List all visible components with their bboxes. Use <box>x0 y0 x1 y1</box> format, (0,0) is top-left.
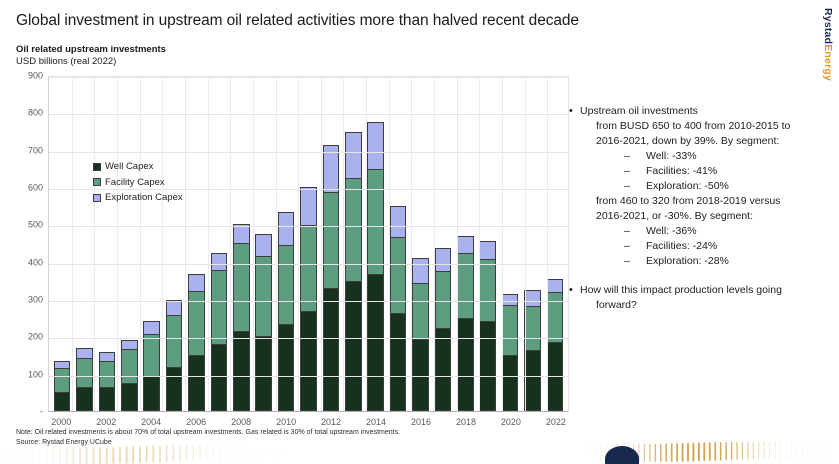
bar-segment <box>345 132 362 179</box>
x-axis-tick: 2010 <box>276 417 296 427</box>
gridline-horizontal <box>49 301 568 302</box>
bullet-line: 2016-2021, down by 39%. By segment: <box>580 134 834 149</box>
gridline-vertical <box>411 77 412 411</box>
rystad-energy-logo: RystadEnergy <box>823 8 834 81</box>
bar-slot <box>141 77 163 411</box>
bar-segment <box>524 306 541 350</box>
bar-slot <box>320 77 342 411</box>
bar-segment <box>54 361 71 368</box>
x-slot: 2020 <box>500 413 522 431</box>
gridline-vertical <box>208 77 209 411</box>
bar-segment <box>99 387 116 411</box>
bullet-line: from 460 to 320 from 2018-2019 versus <box>580 194 834 209</box>
bar-group <box>49 77 568 411</box>
legend-swatch-icon <box>93 178 101 186</box>
bar-segment <box>76 358 93 387</box>
bar-segment <box>278 245 295 324</box>
stacked-bar[interactable] <box>367 122 384 411</box>
bar-slot <box>253 77 275 411</box>
bar-segment <box>435 271 452 328</box>
legend-label: Exploration Capex <box>105 193 183 203</box>
y-axis-tick: 700 <box>28 146 43 155</box>
sub-bullet-dash-icon: – <box>624 179 646 194</box>
logo-energy: Energy <box>822 44 834 81</box>
legend-label: Well Capex <box>105 162 153 172</box>
gridline-vertical <box>457 77 458 411</box>
bar-segment <box>323 288 340 411</box>
bar-slot <box>364 77 386 411</box>
stacked-bar[interactable] <box>524 290 541 411</box>
sub-bullet-item: –Well: -36% <box>580 224 834 239</box>
gridline-horizontal <box>49 338 568 339</box>
legend-label: Facility Capex <box>105 178 165 188</box>
bar-segment <box>76 348 93 358</box>
sub-bullet-dash-icon: – <box>624 254 646 269</box>
y-axis-tick: 500 <box>28 221 43 230</box>
bar-segment <box>547 292 564 342</box>
gridline-vertical <box>230 77 231 411</box>
gridline-horizontal <box>49 226 568 227</box>
x-axis-tick: 2004 <box>141 417 161 427</box>
bar-segment <box>54 368 71 392</box>
bar-segment <box>435 248 452 271</box>
stacked-bar[interactable] <box>435 248 452 411</box>
x-axis-tick: 2008 <box>231 417 251 427</box>
legend-item[interactable]: Well Capex <box>93 162 183 172</box>
gridline-vertical <box>389 77 390 411</box>
stacked-bar[interactable] <box>345 132 362 411</box>
gridline-vertical <box>434 77 435 411</box>
bar-segment <box>367 122 384 169</box>
sub-bullet-dash-icon: – <box>624 164 646 179</box>
sub-bullet-label: Exploration: -50% <box>646 179 729 194</box>
y-axis-tick: 200 <box>28 333 43 342</box>
bar-segment <box>412 283 429 340</box>
stacked-bar[interactable] <box>502 294 519 411</box>
bar-segment <box>121 383 138 411</box>
bar-slot <box>185 77 207 411</box>
bullet-dot-icon: • <box>566 283 580 313</box>
stacked-bar[interactable] <box>255 234 272 411</box>
gridline-vertical <box>343 77 344 411</box>
x-axis-tick: 2020 <box>501 417 521 427</box>
sub-bullet-item: –Facilities: -41% <box>580 164 834 179</box>
stacked-bar[interactable] <box>390 206 407 411</box>
bullet-line: 2016-2021, or -30%. By segment: <box>580 209 834 224</box>
bar-segment <box>255 256 272 336</box>
x-axis-tick: 2002 <box>96 417 116 427</box>
bar-segment <box>54 392 71 411</box>
bar-slot <box>163 77 185 411</box>
gridline-vertical <box>117 77 118 411</box>
bar-segment <box>502 305 519 355</box>
bullet-body: How will this impact production levels g… <box>580 283 834 313</box>
sub-bullet-item: –Facilities: -24% <box>580 239 834 254</box>
bullet-line: from BUSD 650 to 400 from 2010-2015 to <box>580 119 834 134</box>
bar-segment <box>188 355 205 411</box>
bar-segment <box>479 321 496 411</box>
bar-slot <box>73 77 95 411</box>
gridline-horizontal <box>49 264 568 265</box>
bar-segment <box>524 290 541 306</box>
bar-segment <box>121 349 138 383</box>
bar-segment <box>390 206 407 237</box>
sub-bullet-label: Exploration: -28% <box>646 254 729 269</box>
gridline-vertical <box>162 77 163 411</box>
gridline-vertical <box>140 77 141 411</box>
bullet-line: Upstream oil investments <box>580 104 834 119</box>
stacked-bar[interactable] <box>547 279 564 411</box>
gridline-vertical <box>72 77 73 411</box>
bar-segment <box>233 243 250 330</box>
chart-subtitle: USD billions (real 2022) <box>16 56 116 67</box>
stacked-bar[interactable] <box>166 300 183 411</box>
sub-bullet-label: Facilities: -24% <box>646 239 717 254</box>
stacked-bar[interactable] <box>188 274 205 411</box>
bullet-body: Upstream oil investmentsfrom BUSD 650 to… <box>580 104 834 269</box>
legend-item[interactable]: Facility Capex <box>93 178 183 188</box>
gridline-vertical <box>298 77 299 411</box>
sub-bullet-item: –Well: -33% <box>580 149 834 164</box>
gridline-vertical <box>185 77 186 411</box>
bar-segment <box>547 279 564 292</box>
bullet-block: •Upstream oil investmentsfrom BUSD 650 t… <box>566 104 834 269</box>
gridline-vertical <box>253 77 254 411</box>
bar-segment <box>502 355 519 411</box>
sub-bullet-item: –Exploration: -50% <box>580 179 834 194</box>
legend-swatch-icon <box>93 163 101 171</box>
sub-bullet-item: –Exploration: -28% <box>580 254 834 269</box>
y-axis-tick: 800 <box>28 109 43 118</box>
x-axis-tick: 2018 <box>456 417 476 427</box>
gridline-vertical <box>479 77 480 411</box>
bar-segment <box>412 258 429 282</box>
y-axis-tick: 400 <box>28 258 43 267</box>
legend-swatch-icon <box>93 194 101 202</box>
bar-segment <box>323 192 340 288</box>
stacked-bar[interactable] <box>479 241 496 411</box>
sub-bullet-dash-icon: – <box>624 149 646 164</box>
chart-container: 900800700600500400300200100- 20002002200… <box>15 76 570 421</box>
stacked-bar[interactable] <box>211 253 228 411</box>
bar-slot <box>342 77 364 411</box>
bar-slot <box>230 77 252 411</box>
bar-segment <box>278 212 295 246</box>
stacked-bar[interactable] <box>99 352 116 411</box>
x-axis-tick: 2016 <box>411 417 431 427</box>
stacked-bar[interactable] <box>233 224 250 411</box>
gridline-vertical <box>94 77 95 411</box>
bullet-line: How will this impact production levels g… <box>580 283 834 298</box>
bullet-line: forward? <box>580 298 834 313</box>
bar-segment <box>211 344 228 411</box>
bar-segment <box>211 253 228 270</box>
stacked-bar[interactable] <box>323 145 340 411</box>
bar-segment <box>502 294 519 305</box>
stacked-bar[interactable] <box>300 187 317 411</box>
x-slot: 2022 <box>545 413 567 431</box>
bar-segment <box>300 311 317 411</box>
y-axis-tick: 600 <box>28 184 43 193</box>
stacked-bar[interactable] <box>76 348 93 411</box>
legend-item[interactable]: Exploration Capex <box>93 193 183 203</box>
bar-segment <box>524 350 541 411</box>
gridline-horizontal <box>49 376 568 377</box>
gridline-vertical <box>525 77 526 411</box>
stacked-bar[interactable] <box>278 212 295 411</box>
bar-segment <box>300 187 317 225</box>
x-axis-tick: 2022 <box>546 417 566 427</box>
bar-slot <box>51 77 73 411</box>
bar-segment <box>457 236 474 254</box>
bar-segment <box>345 178 362 281</box>
x-slot: 2018 <box>455 413 477 431</box>
y-axis-tick: 100 <box>28 370 43 379</box>
bar-segment <box>255 336 272 411</box>
slide-root: Global investment in upstream oil relate… <box>0 0 839 464</box>
x-axis-tick: 2012 <box>321 417 341 427</box>
stacked-bar[interactable] <box>457 236 474 411</box>
bar-segment <box>143 321 160 333</box>
bar-slot <box>208 77 230 411</box>
bar-segment <box>211 270 228 344</box>
x-slot <box>432 413 454 431</box>
bar-segment <box>143 334 160 376</box>
x-slot <box>477 413 499 431</box>
x-axis-tick: 2014 <box>366 417 386 427</box>
bar-segment <box>76 387 93 411</box>
x-axis-tick: 2000 <box>51 417 71 427</box>
sub-bullet-dash-icon: – <box>624 239 646 254</box>
bar-slot <box>387 77 409 411</box>
bar-segment <box>188 274 205 290</box>
bar-slot <box>96 77 118 411</box>
y-axis: 900800700600500400300200100- <box>15 76 47 412</box>
stacked-bar[interactable] <box>412 258 429 411</box>
bar-slot <box>409 77 431 411</box>
note-line-1: Note: Oil related investments is about 7… <box>16 428 400 438</box>
sub-bullet-label: Well: -33% <box>646 149 697 164</box>
sub-bullet-label: Well: -36% <box>646 224 697 239</box>
bar-segment <box>121 340 138 350</box>
bar-segment <box>166 300 183 315</box>
bar-segment <box>143 376 160 411</box>
gridline-vertical <box>502 77 503 411</box>
decorative-dots-left <box>0 440 300 464</box>
sub-bullet-dash-icon: – <box>624 224 646 239</box>
bar-segment <box>367 274 384 411</box>
stacked-bar[interactable] <box>54 361 71 411</box>
page-title: Global investment in upstream oil relate… <box>16 12 579 30</box>
logo-rystad: Rystad <box>822 8 834 44</box>
gridline-vertical <box>321 77 322 411</box>
gridline-horizontal <box>49 152 568 153</box>
x-slot: 2016 <box>410 413 432 431</box>
commentary-panel: •Upstream oil investmentsfrom BUSD 650 t… <box>566 104 834 327</box>
bar-segment <box>233 331 250 411</box>
bar-segment <box>435 328 452 411</box>
chart-title: Oil related upstream investments <box>16 44 166 55</box>
bullet-dot-icon: • <box>566 104 580 269</box>
y-axis-tick: 900 <box>28 72 43 81</box>
y-axis-tick: 300 <box>28 296 43 305</box>
gridline-vertical <box>547 77 548 411</box>
x-axis-tick: 2006 <box>186 417 206 427</box>
bar-slot <box>275 77 297 411</box>
bar-slot <box>297 77 319 411</box>
bar-segment <box>99 352 116 361</box>
bar-segment <box>166 315 183 367</box>
chart-legend: Well CapexFacility CapexExploration Cape… <box>93 162 183 203</box>
gridline-horizontal <box>49 77 568 78</box>
gridline-vertical <box>276 77 277 411</box>
bar-segment <box>166 367 183 411</box>
bar-slot <box>118 77 140 411</box>
bar-segment <box>99 361 116 387</box>
bullet-block: •How will this impact production levels … <box>566 283 834 313</box>
bar-segment <box>390 313 407 411</box>
bar-segment <box>457 318 474 411</box>
bar-segment <box>300 225 317 311</box>
stacked-bar[interactable] <box>143 321 160 411</box>
gridline-vertical <box>366 77 367 411</box>
plot-area <box>48 76 569 412</box>
y-axis-tick: - <box>40 408 43 417</box>
bar-segment <box>479 259 496 321</box>
bar-segment <box>367 169 384 274</box>
bar-segment <box>255 234 272 257</box>
bar-segment <box>479 241 496 259</box>
sub-bullet-label: Facilities: -41% <box>646 164 717 179</box>
gridline-horizontal <box>49 114 568 115</box>
x-slot <box>522 413 544 431</box>
